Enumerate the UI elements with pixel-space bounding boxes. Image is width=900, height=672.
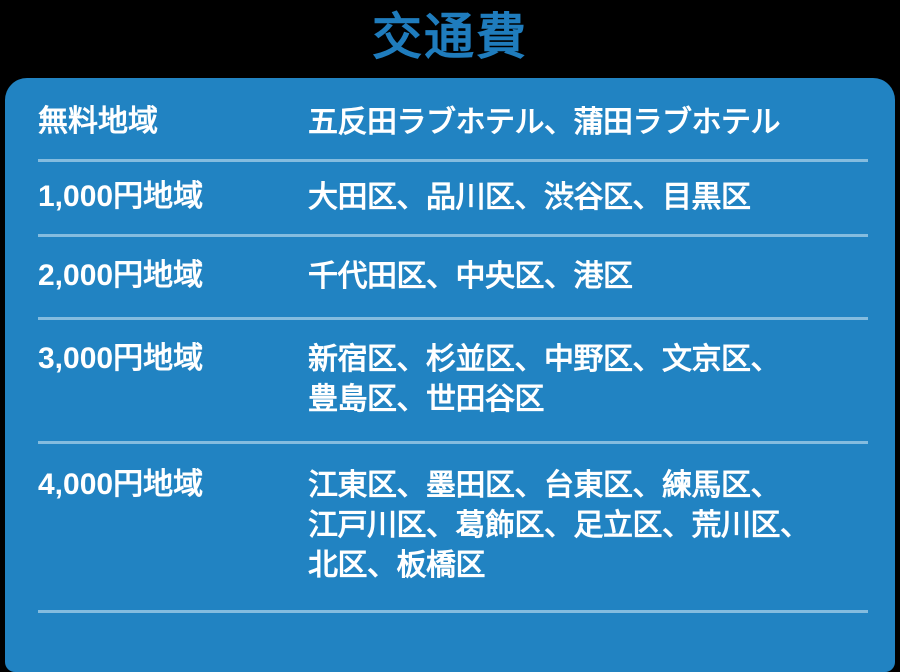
- fee-tier-label: 3,000円地域: [38, 340, 308, 378]
- page-title: 交通費: [372, 12, 528, 62]
- table-row: 1,000円地域 大田区、品川区、渋谷区、目黒区: [38, 162, 868, 234]
- fee-area-value: 新宿区、杉並区、中野区、文京区、 豊島区、世田谷区: [308, 340, 868, 420]
- fee-area-line: 江戸川区、葛飾区、足立区、荒川区、: [308, 506, 868, 546]
- card-title-bar: 交通費: [0, 0, 900, 78]
- fee-area-value: 五反田ラブホテル、蒲田ラブホテル: [308, 103, 868, 143]
- fee-area-value: 大田区、品川区、渋谷区、目黒区: [308, 178, 868, 218]
- transportation-fee-card: 交通費 無料地域 五反田ラブホテル、蒲田ラブホテル 1,000円地域 大田区、品…: [0, 0, 900, 672]
- table-row: 3,000円地域 新宿区、杉並区、中野区、文京区、 豊島区、世田谷区: [38, 320, 868, 442]
- fee-area-value: 江東区、墨田区、台東区、練馬区、 江戸川区、葛飾区、足立区、荒川区、 北区、板橋…: [308, 466, 868, 586]
- fee-area-line: 千代田区、中央区、港区: [308, 257, 868, 297]
- row-divider: [38, 610, 868, 613]
- table-row: 無料地域 五反田ラブホテル、蒲田ラブホテル: [38, 78, 868, 159]
- fee-table-panel: 無料地域 五反田ラブホテル、蒲田ラブホテル 1,000円地域 大田区、品川区、渋…: [5, 78, 895, 672]
- fee-area-line: 大田区、品川区、渋谷区、目黒区: [308, 178, 868, 218]
- table-row: 2,000円地域 千代田区、中央区、港区: [38, 237, 868, 317]
- fee-tier-label: 2,000円地域: [38, 257, 308, 295]
- fee-table: 無料地域 五反田ラブホテル、蒲田ラブホテル 1,000円地域 大田区、品川区、渋…: [38, 78, 868, 613]
- fee-area-value: 千代田区、中央区、港区: [308, 257, 868, 297]
- table-row: 4,000円地域 江東区、墨田区、台東区、練馬区、 江戸川区、葛飾区、足立区、荒…: [38, 444, 868, 610]
- fee-tier-label: 無料地域: [38, 103, 308, 141]
- fee-tier-label: 1,000円地域: [38, 178, 308, 216]
- fee-tier-label: 4,000円地域: [38, 466, 308, 504]
- fee-area-line: 新宿区、杉並区、中野区、文京区、: [308, 340, 868, 380]
- fee-area-line: 北区、板橋区: [308, 546, 868, 586]
- fee-area-line: 江東区、墨田区、台東区、練馬区、: [308, 466, 868, 506]
- fee-area-line: 豊島区、世田谷区: [308, 380, 868, 420]
- fee-area-line: 五反田ラブホテル、蒲田ラブホテル: [308, 103, 868, 143]
